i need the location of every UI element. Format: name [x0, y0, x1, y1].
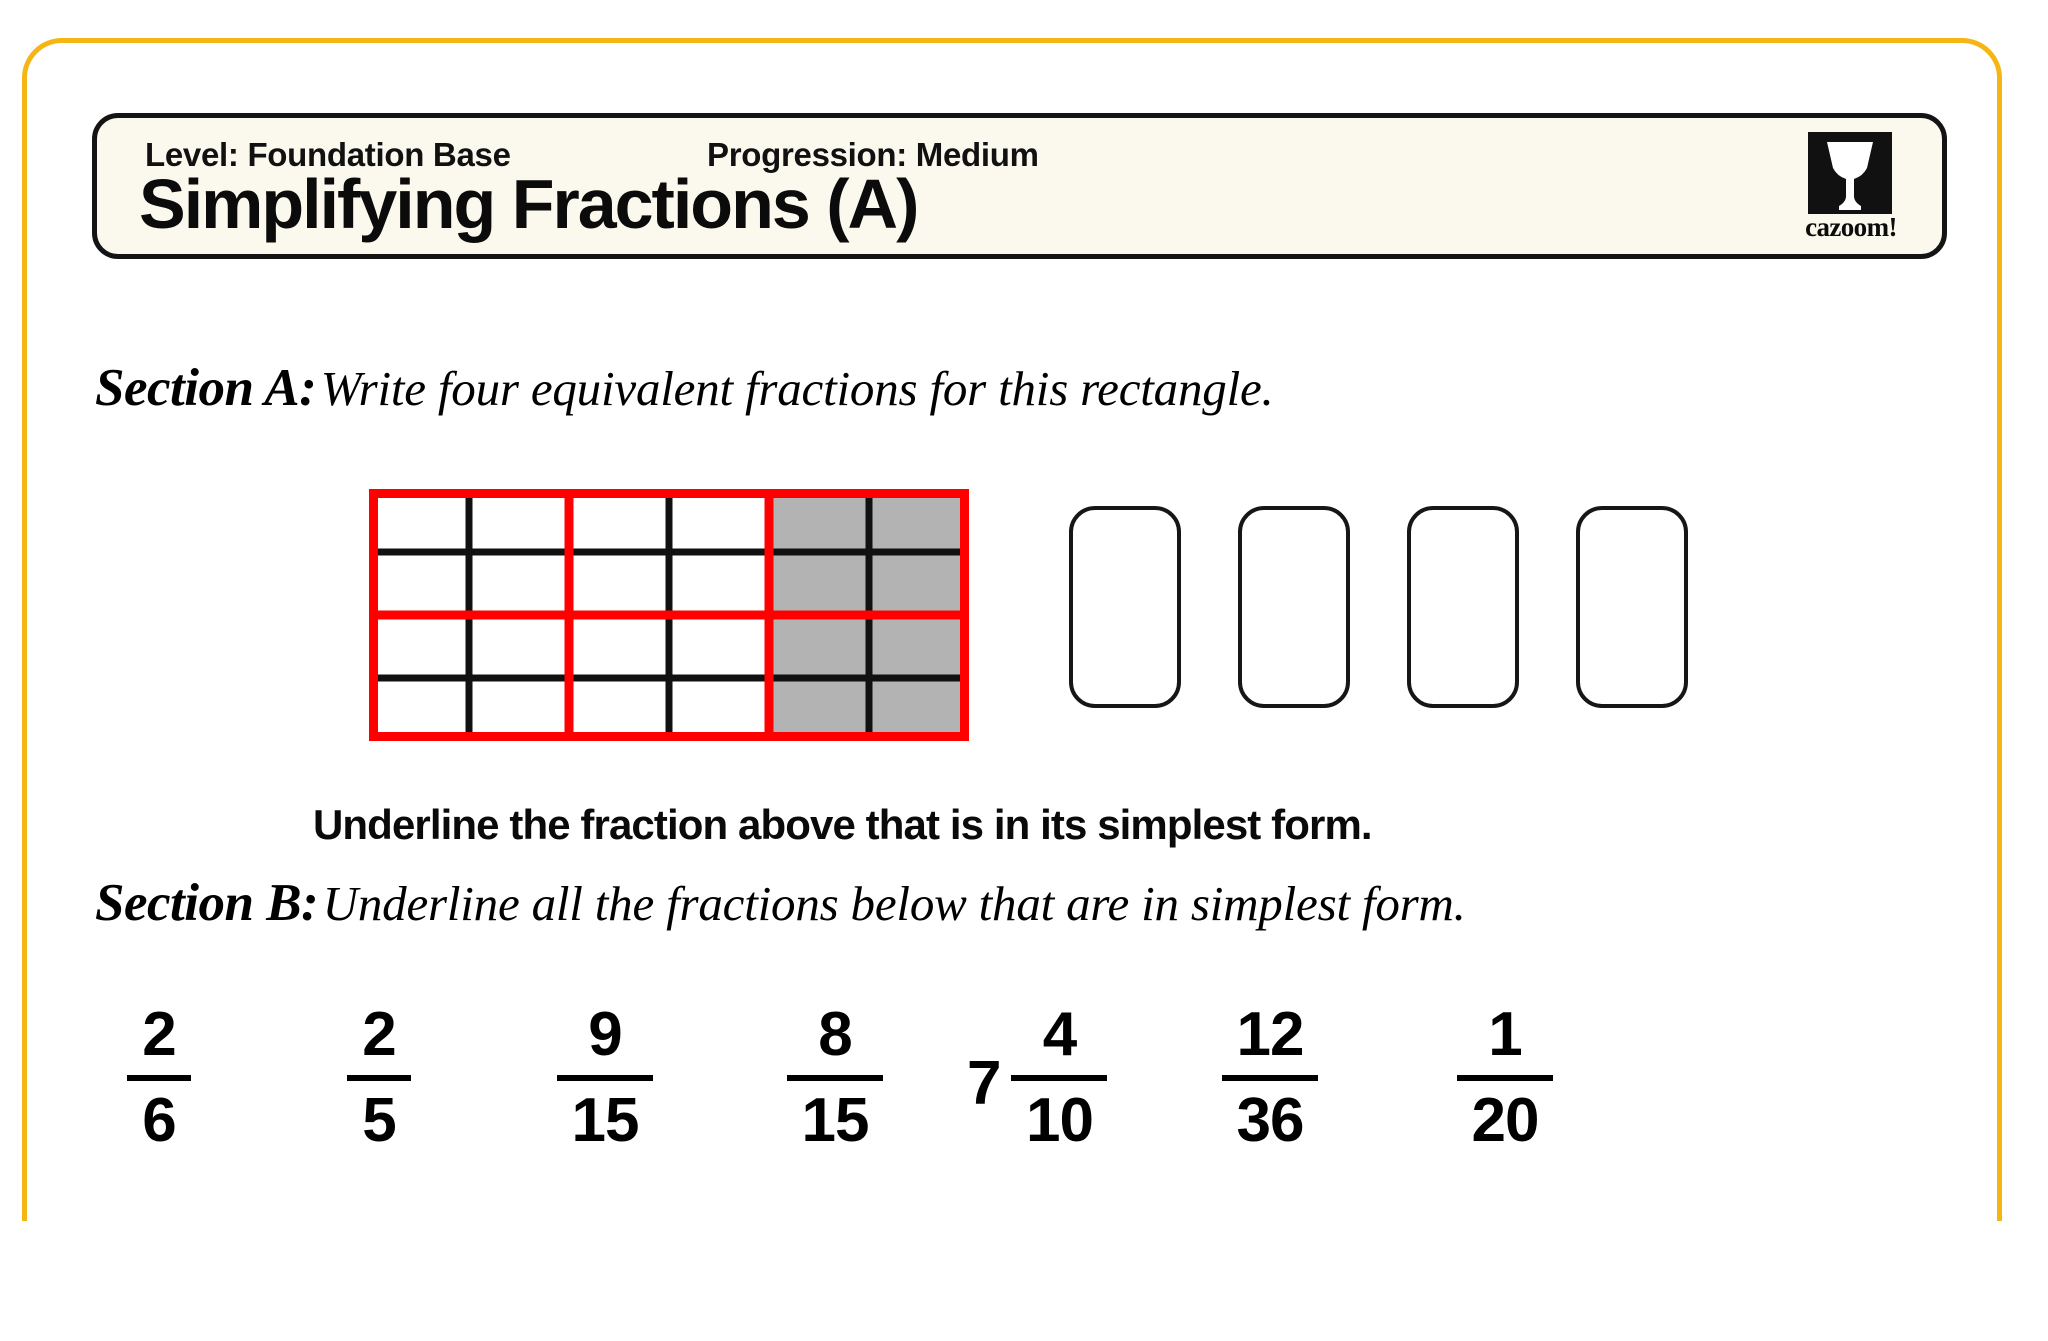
fraction: 12 36 [1222, 1001, 1318, 1155]
numerator: 8 [818, 1001, 851, 1069]
fraction-bar [127, 1075, 191, 1081]
fraction: 8 15 [787, 1001, 883, 1155]
vase-glyph [1821, 138, 1879, 210]
answer-box-3[interactable] [1407, 506, 1519, 708]
section-a-prompt: Write four equivalent fractions for this… [321, 361, 1274, 416]
denominator: 6 [142, 1087, 175, 1155]
numerator: 12 [1237, 1001, 1304, 1069]
denominator: 15 [802, 1087, 869, 1155]
cazoom-vase-logo-icon [1808, 132, 1892, 214]
section-b-prompt: Underline all the fractions below that a… [323, 876, 1466, 931]
section-b-label: Section B: [95, 874, 318, 932]
fraction-bar [557, 1075, 653, 1081]
fraction-bar [1011, 1075, 1107, 1081]
numerator: 2 [142, 1001, 175, 1069]
equivalent-fraction-answer-boxes [1069, 506, 1719, 718]
denominator: 15 [572, 1087, 639, 1155]
numerator: 9 [588, 1001, 621, 1069]
fraction-item[interactable]: 9 15 [547, 988, 653, 1168]
fraction-item[interactable]: 2 6 [117, 988, 191, 1168]
fraction-item[interactable]: 1 20 [1447, 988, 1553, 1168]
fraction-bar [1222, 1075, 1318, 1081]
section-a-label: Section A: [95, 359, 316, 417]
denominator: 10 [1026, 1087, 1093, 1155]
header-banner: Level: Foundation Base Progression: Medi… [92, 113, 1947, 259]
answer-box-1[interactable] [1069, 506, 1181, 708]
fraction-bar [1457, 1075, 1553, 1081]
fraction-bar [347, 1075, 411, 1081]
section-b-fraction-list: 2 6 2 5 9 15 8 [87, 988, 1987, 1178]
fraction: 2 5 [347, 1001, 411, 1155]
page-title: Simplifying Fractions (A) [139, 166, 917, 242]
cazoom-logo: cazoom! [1792, 132, 1910, 244]
denominator: 36 [1237, 1087, 1304, 1155]
numerator: 2 [362, 1001, 395, 1069]
worksheet-page-frame: Level: Foundation Base Progression: Medi… [22, 38, 2002, 1278]
fraction: 9 15 [557, 1001, 653, 1155]
section-a-heading: Section A: Write four equivalent fractio… [95, 358, 1274, 418]
fraction: 1 20 [1457, 1001, 1553, 1155]
fraction: 4 10 [1011, 1001, 1107, 1155]
mixed-number-item[interactable]: 7 4 10 [967, 988, 1107, 1168]
fraction-item[interactable]: 12 36 [1212, 988, 1318, 1168]
numerator: 1 [1488, 1001, 1521, 1069]
denominator: 20 [1472, 1087, 1539, 1155]
shaded-grid-svg [369, 489, 969, 741]
fraction-item[interactable]: 2 5 [337, 988, 411, 1168]
fraction-item[interactable]: 8 15 [777, 988, 883, 1168]
viewport-bottom-clip [0, 1221, 2048, 1341]
cazoom-wordmark: cazoom! [1792, 212, 1910, 243]
denominator: 5 [362, 1087, 395, 1155]
section-b-heading: Section B: Underline all the fractions b… [95, 873, 1466, 933]
fraction: 2 6 [127, 1001, 191, 1155]
answer-box-2[interactable] [1238, 506, 1350, 708]
fraction-bar [787, 1075, 883, 1081]
numerator: 4 [1043, 1001, 1076, 1069]
fraction-rectangle-diagram [369, 489, 969, 741]
whole-number-part: 7 [967, 1053, 1001, 1115]
underline-simplest-form-instruction: Underline the fraction above that is in … [313, 801, 1372, 849]
answer-box-4[interactable] [1576, 506, 1688, 708]
